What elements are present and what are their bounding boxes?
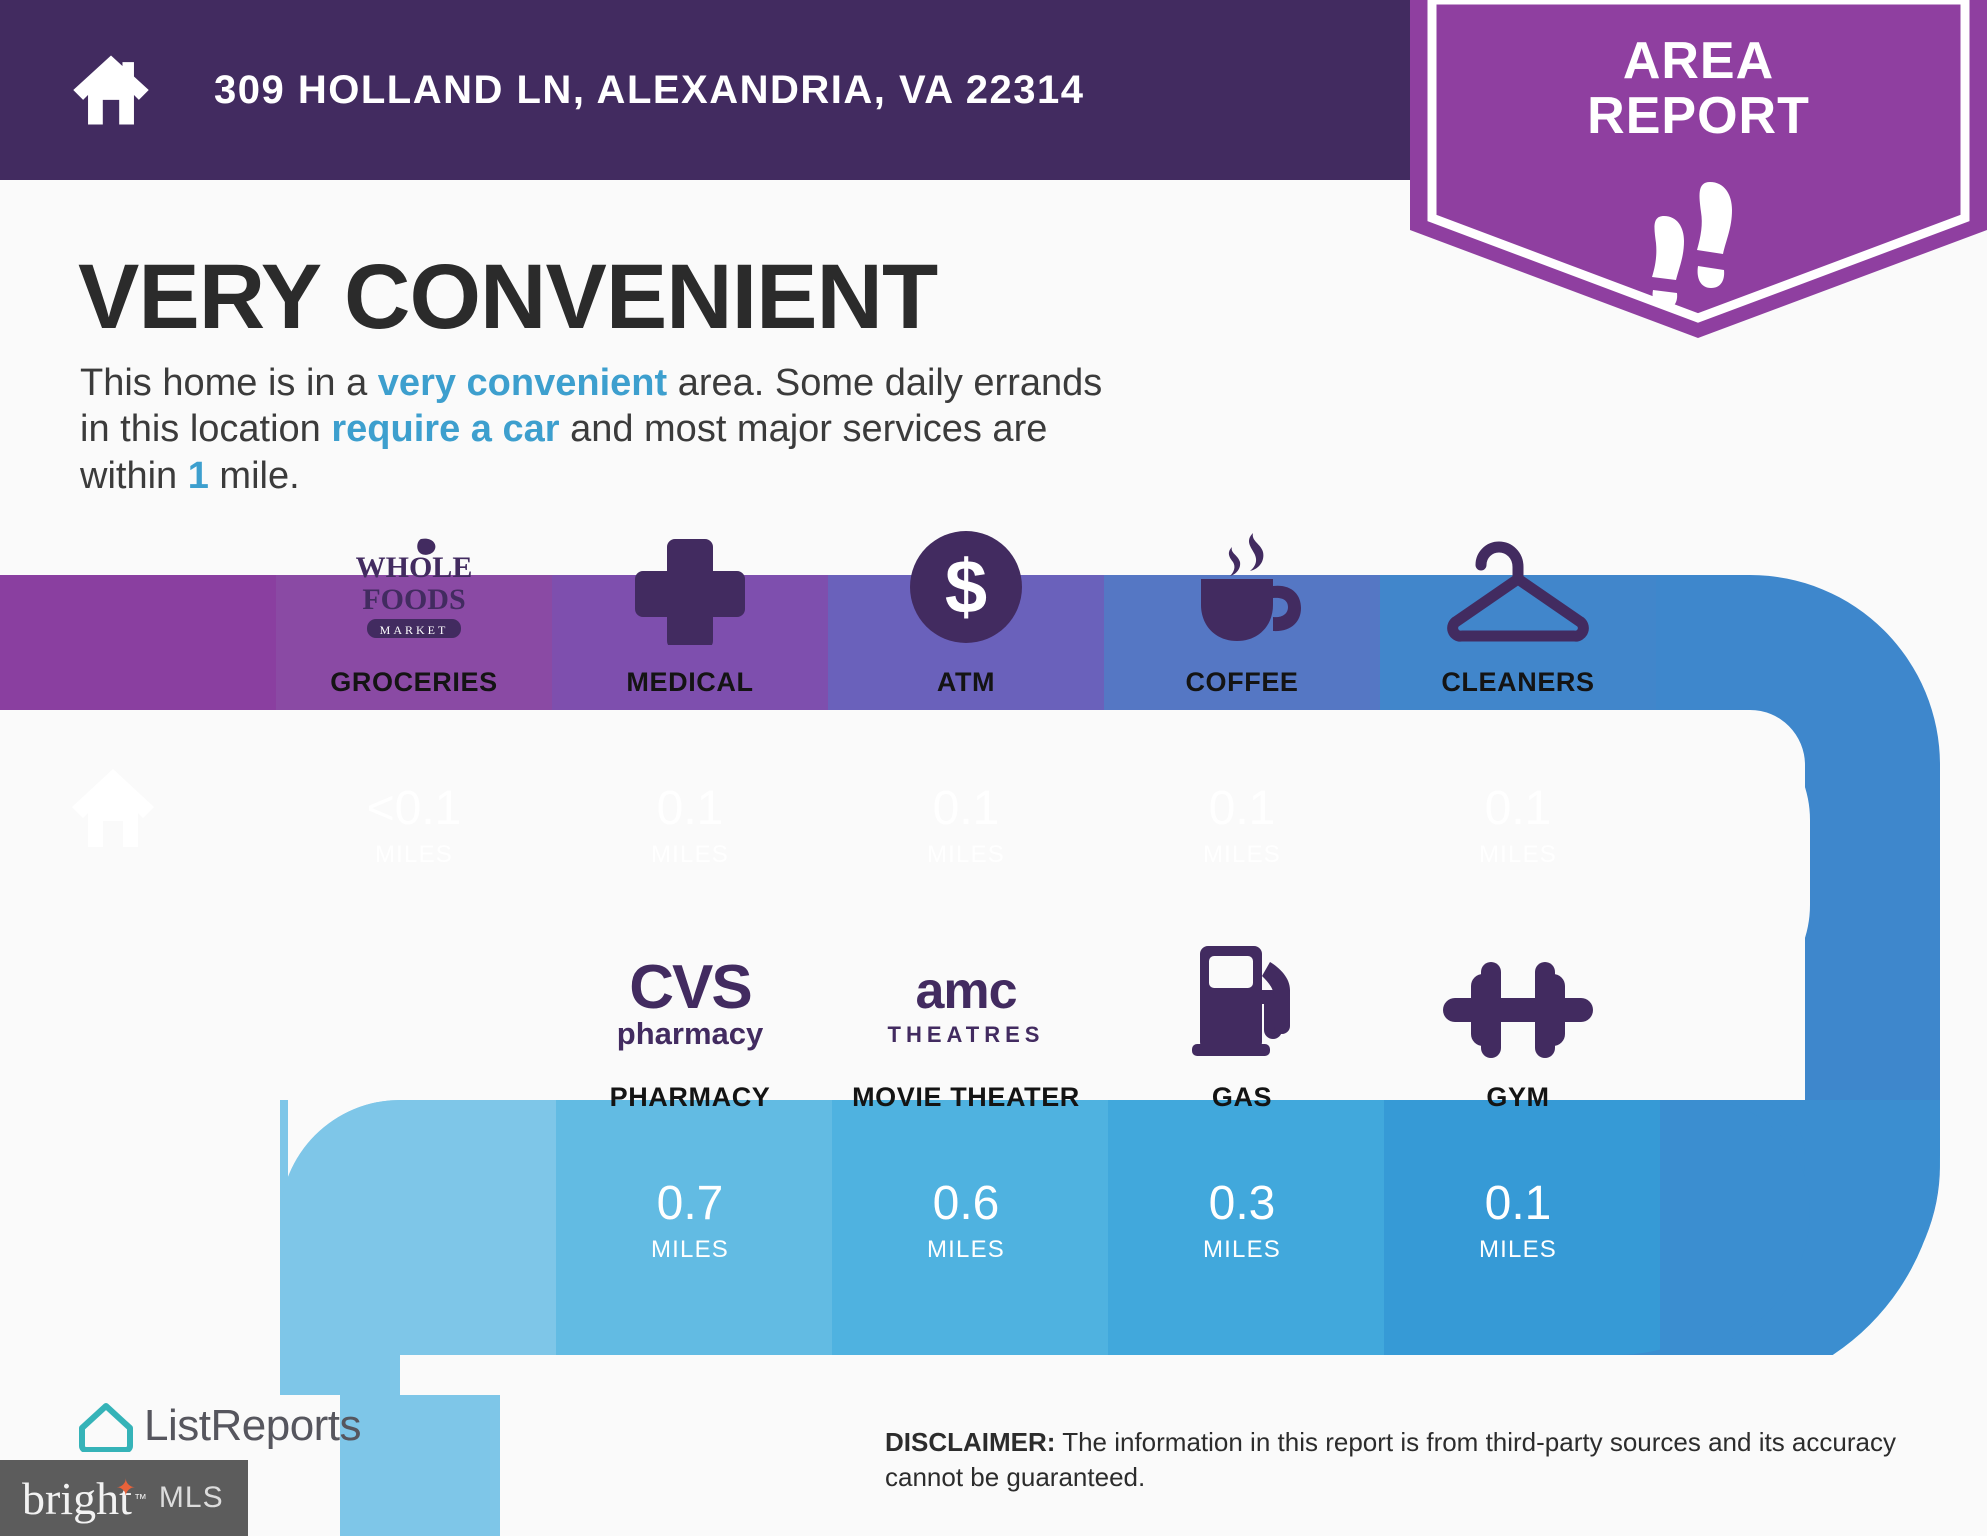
coffee-cup-icon (1179, 525, 1305, 645)
disclaimer-label: DISCLAIMER: (885, 1427, 1055, 1457)
desc-part-1: This home is in a (80, 362, 378, 404)
category-cleaners: CLEANERS (1380, 525, 1656, 698)
cvs-pharmacy-logo: CVS pharmacy (605, 940, 775, 1060)
desc-highlight-1: very convenient (378, 362, 667, 404)
bright-mls-watermark: bright✦ ™ MLS (0, 1460, 248, 1536)
svg-text:amc: amc (915, 962, 1016, 1020)
area-report-badge: AREA REPORT (1410, 0, 1987, 338)
clothes-hanger-icon (1443, 525, 1593, 645)
mls-brand: bright✦ (22, 1472, 132, 1525)
category-movie-theater: amc THEATRES MOVIE THEATER (828, 940, 1104, 1113)
property-address: 309 HOLLAND LN, ALEXANDRIA, VA 22314 (214, 68, 1084, 113)
svg-text:WHOLE: WHOLE (356, 551, 473, 584)
desc-part-4: mile. (209, 455, 300, 497)
svg-text:CVS: CVS (629, 953, 750, 1022)
gas-pump-icon (1182, 940, 1302, 1060)
house-outline-icon (78, 1400, 134, 1452)
row2-spacer-1 (0, 940, 276, 1113)
row2-spacer-2 (276, 940, 552, 1113)
category-row-2: CVS pharmacy PHARMACY amc THEATRES MOVIE… (0, 940, 1987, 1113)
dumbbell-icon (1443, 940, 1593, 1060)
whole-foods-logo: WHOLE FOODS MARKET (349, 525, 479, 645)
category-label: GAS (1212, 1082, 1272, 1113)
amc-theatres-logo: amc THEATRES (881, 940, 1051, 1060)
header-bar: 309 HOLLAND LN, ALEXANDRIA, VA 22314 (0, 0, 1410, 180)
category-row-1: WHOLE FOODS MARKET GROCERIES MEDICAL $ A… (0, 525, 1987, 698)
svg-text:THEATRES: THEATRES (888, 1022, 1045, 1047)
svg-text:FOODS: FOODS (362, 583, 465, 616)
row1-home-icon (70, 765, 156, 851)
home-icon (70, 49, 152, 131)
category-atm: $ ATM (828, 525, 1104, 698)
svg-text:MARKET: MARKET (380, 623, 449, 637)
category-label: CLEANERS (1441, 667, 1594, 698)
category-label: MOVIE THEATER (852, 1082, 1080, 1113)
desc-highlight-2: require a car (331, 408, 559, 450)
svg-text:pharmacy: pharmacy (617, 1016, 764, 1051)
listreports-logo: ListReports (78, 1400, 361, 1452)
category-gym: GYM (1380, 940, 1656, 1113)
category-gas: GAS (1104, 940, 1380, 1113)
category-label: GROCERIES (330, 667, 497, 698)
category-coffee: COFFEE (1104, 525, 1380, 698)
svg-text:$: $ (945, 545, 987, 630)
category-groceries: WHOLE FOODS MARKET GROCERIES (276, 525, 552, 698)
page-title: VERY CONVENIENT (78, 245, 937, 350)
category-label: ATM (937, 667, 995, 698)
listreports-name: ListReports (144, 1401, 361, 1451)
desc-highlight-3: 1 (188, 455, 209, 497)
atm-dollar-icon: $ (908, 525, 1024, 645)
category-medical: MEDICAL (552, 525, 828, 698)
page-description: This home is in a very convenient area. … (80, 360, 1140, 499)
row1-spacer (0, 525, 276, 698)
disclaimer: DISCLAIMER: The information in this repo… (885, 1425, 1915, 1495)
category-label: GYM (1486, 1082, 1549, 1113)
category-label: COFFEE (1185, 667, 1298, 698)
category-pharmacy: CVS pharmacy PHARMACY (552, 940, 828, 1113)
category-label: PHARMACY (610, 1082, 771, 1113)
mls-suffix: MLS (159, 1481, 224, 1515)
category-label: MEDICAL (626, 667, 753, 698)
star-icon: ✦ (116, 1474, 136, 1503)
medical-cross-icon (635, 525, 745, 645)
